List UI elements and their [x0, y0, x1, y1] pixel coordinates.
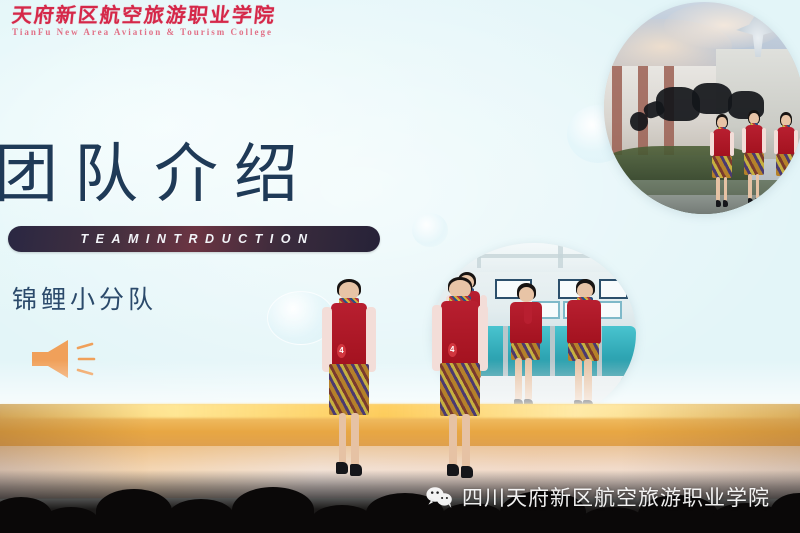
school-logo-en: TianFu New Area Aviation & Tourism Colle…: [12, 27, 352, 37]
slide-bottom-haze: [0, 360, 800, 406]
team-name-label: 锦鲤小分队: [12, 280, 157, 316]
page-title: 团队介绍: [0, 140, 314, 210]
watermark: 四川天府新区航空旅游职业学院: [426, 481, 770, 513]
uniform-badge: 4: [448, 343, 457, 357]
title-subtitle-en: TEAMINTRDUCTION: [8, 226, 380, 252]
audience-head: [232, 487, 314, 533]
model-right: 4: [429, 277, 491, 478]
audience-head: [312, 505, 372, 533]
model-left: 4: [319, 279, 379, 476]
audience-head: [96, 489, 172, 533]
school-logo: 天府新区航空旅游职业学院 TianFu New Area Aviation & …: [12, 4, 352, 46]
watermark-text: 四川天府新区航空旅游职业学院: [462, 482, 770, 512]
wechat-icon: [426, 486, 453, 509]
photo-monument-group: [604, 2, 800, 214]
audience-head: [168, 499, 234, 533]
audience-head: [44, 507, 98, 533]
school-logo-cn: 天府新区航空旅游职业学院: [11, 4, 353, 26]
uniform-badge: 4: [337, 344, 346, 358]
title-subtitle-bar: TEAMINTRDUCTION: [8, 226, 380, 252]
screenshot-root: 天府新区航空旅游职业学院 TianFu New Area Aviation & …: [0, 0, 800, 533]
